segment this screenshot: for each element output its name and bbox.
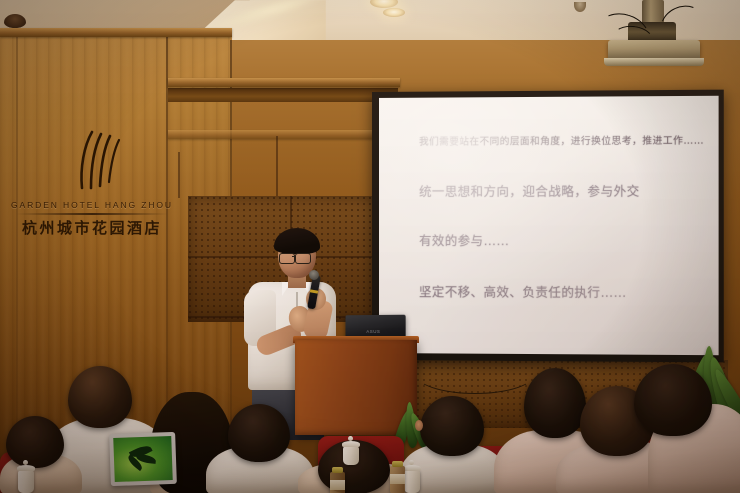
eyeglasses-icon	[295, 253, 311, 264]
wall-dark-band	[168, 88, 398, 102]
slide-line-1: 我们需要站在不同的层面和角度，进行换位思考，推进工作……	[419, 132, 704, 147]
slide-line-4: 坚定不移、高效、负责任的执行……	[419, 282, 627, 301]
hotel-logo-english: GARDEN HOTEL HANG ZHOU	[8, 200, 176, 210]
eyeglasses-bridge-icon	[292, 256, 296, 257]
tablet-device[interactable]	[109, 432, 177, 486]
tea-cup-body	[404, 470, 420, 493]
tablet-screen[interactable]	[113, 436, 173, 482]
eyeglasses-icon	[279, 253, 295, 264]
downlight-icon	[383, 8, 405, 17]
hotel-logo-rule	[16, 213, 168, 215]
tea-cup-knob	[348, 436, 353, 441]
audience-head	[420, 396, 484, 456]
bottle-label	[390, 474, 405, 484]
panel-divider	[276, 136, 278, 196]
tea-cup-lid	[17, 465, 35, 471]
tea-cup-body	[18, 470, 34, 493]
audience-head	[634, 364, 712, 436]
projection-screen-frame: 我们需要站在不同的层面和角度，进行换位思考，推进工作…… 统一思想和方向，迎合战…	[372, 90, 724, 363]
audience-head	[228, 404, 290, 462]
projector-base	[604, 58, 704, 66]
audience-ear	[415, 420, 423, 431]
wall-trim	[0, 28, 232, 37]
smoke-detector-icon	[4, 14, 26, 28]
tea-cup-lid	[403, 465, 421, 471]
audience-head	[68, 366, 132, 428]
podium	[295, 340, 417, 435]
panel-divider	[178, 152, 180, 198]
hotel-logo: GARDEN HOTEL HANG ZHOU 杭州城市花园酒店	[8, 128, 176, 246]
audience-head	[524, 368, 586, 438]
wall-trim	[168, 130, 398, 139]
tea-cup-knob	[409, 460, 414, 465]
laptop-brand-label: ASUS	[366, 329, 380, 334]
photo-scene: GARDEN HOTEL HANG ZHOU 杭州城市花园酒店 我们需要站在不同…	[0, 0, 740, 493]
tea-cup-knob	[23, 460, 28, 465]
floor-cable	[414, 352, 536, 394]
bottle-cap	[392, 461, 403, 467]
projection-screen-surface: 我们需要站在不同的层面和角度，进行换位思考，推进工作…… 统一思想和方向，迎合战…	[379, 96, 719, 355]
slide-line-2: 统一思想和方向，迎合战略，参与外交	[419, 181, 640, 200]
slide-line-3: 有效的参与……	[419, 231, 509, 249]
tea-cup-lid	[342, 441, 360, 447]
audience-head	[6, 416, 64, 468]
bottle-cap	[332, 467, 343, 473]
bottle-label	[330, 480, 345, 490]
tea-cup-body	[343, 446, 359, 465]
hotel-logo-mark-icon	[60, 128, 132, 192]
hotel-logo-chinese: 杭州城市花园酒店	[8, 217, 176, 238]
wall-trim	[168, 78, 400, 87]
